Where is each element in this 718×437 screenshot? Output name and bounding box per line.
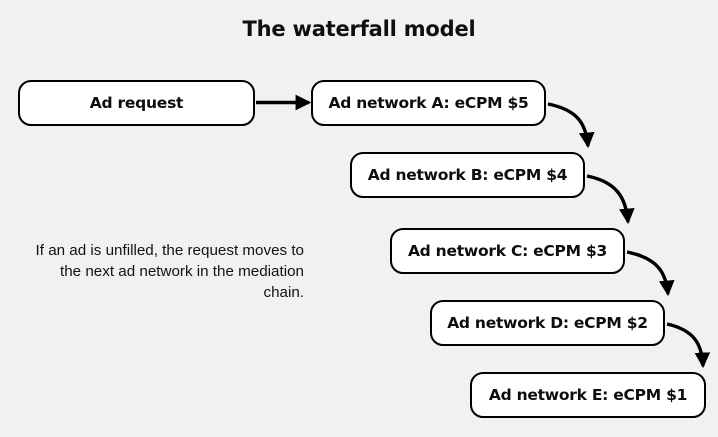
edge-c-to-d bbox=[627, 252, 668, 294]
node-label: Ad network E: eCPM $1 bbox=[489, 386, 687, 404]
node-network-c[interactable]: Ad network C: eCPM $3 bbox=[390, 228, 625, 274]
diagram-caption: If an ad is unfilled, the request moves … bbox=[24, 240, 304, 303]
diagram-canvas: The waterfall model Ad request Ad networ… bbox=[0, 0, 718, 437]
diagram-title: The waterfall model bbox=[0, 17, 718, 41]
node-label: Ad request bbox=[90, 94, 183, 112]
node-label: Ad network B: eCPM $4 bbox=[368, 166, 568, 184]
node-label: Ad network C: eCPM $3 bbox=[408, 242, 607, 260]
edge-b-to-c bbox=[587, 176, 628, 222]
node-network-e[interactable]: Ad network E: eCPM $1 bbox=[470, 372, 706, 418]
node-network-a[interactable]: Ad network A: eCPM $5 bbox=[311, 80, 546, 126]
node-network-b[interactable]: Ad network B: eCPM $4 bbox=[350, 152, 585, 198]
node-ad-request[interactable]: Ad request bbox=[18, 80, 255, 126]
node-network-d[interactable]: Ad network D: eCPM $2 bbox=[430, 300, 665, 346]
edge-d-to-e bbox=[667, 324, 703, 366]
node-label: Ad network D: eCPM $2 bbox=[447, 314, 648, 332]
node-label: Ad network A: eCPM $5 bbox=[328, 94, 528, 112]
edge-a-to-b bbox=[548, 104, 588, 146]
